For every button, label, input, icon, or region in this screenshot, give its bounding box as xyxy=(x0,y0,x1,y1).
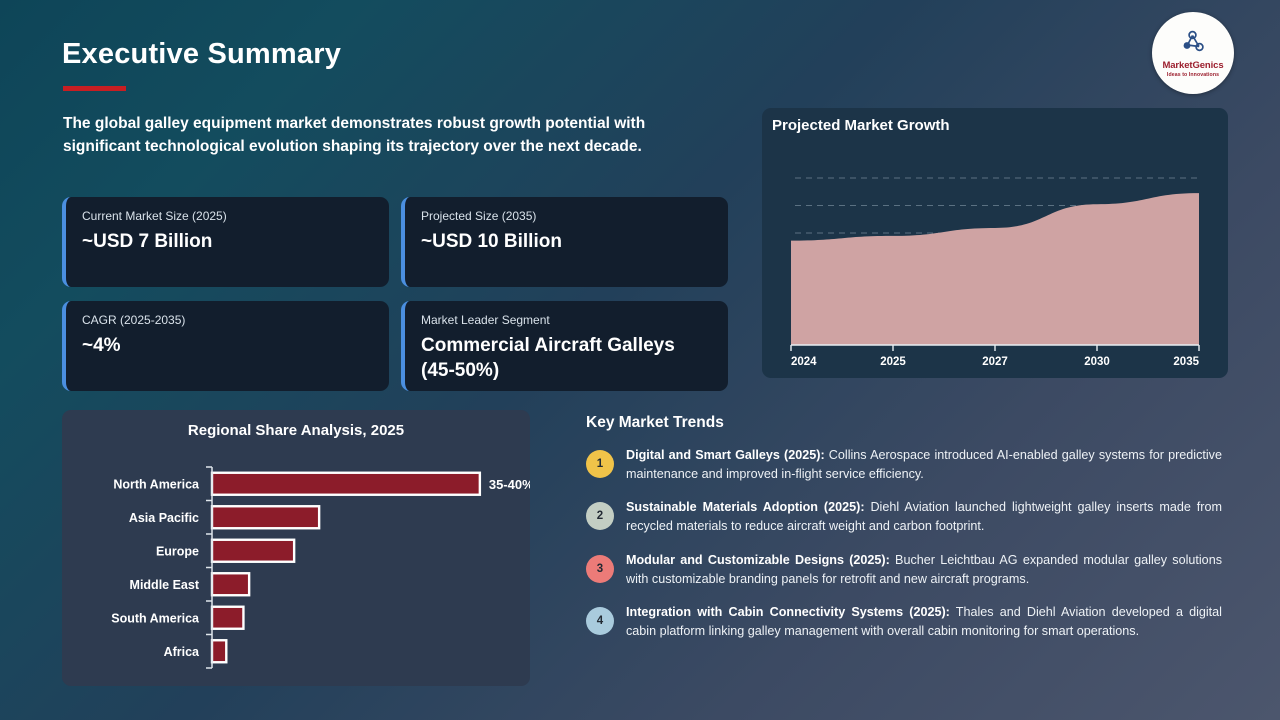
trend-heading: Digital and Smart Galleys (2025): xyxy=(626,448,825,462)
bar-africa xyxy=(212,640,226,662)
kpi-label: Market Leader Segment xyxy=(421,313,712,327)
kpi-value: ~4% xyxy=(82,333,373,358)
trend-description: Digital and Smart Galleys (2025): Collin… xyxy=(626,446,1222,484)
logo-wordmark: MarketGenics xyxy=(1162,61,1223,71)
svg-text:2030: 2030 xyxy=(1084,356,1110,368)
bar-category-label: South America xyxy=(111,611,200,625)
bar-asia-pacific xyxy=(212,506,319,528)
kpi-value: ~USD 7 Billion xyxy=(82,229,373,254)
svg-text:2027: 2027 xyxy=(982,356,1008,368)
brand-logo: MarketGenics Ideas to Innovations xyxy=(1152,12,1234,94)
svg-text:2035: 2035 xyxy=(1173,356,1199,368)
svg-text:2025: 2025 xyxy=(880,356,906,368)
trend-description: Integration with Cabin Connectivity Syst… xyxy=(626,603,1222,641)
kpi-card-projected-size: Projected Size (2035) ~USD 10 Billion xyxy=(401,197,728,287)
chart-y-axis xyxy=(206,467,212,668)
page-title: Executive Summary xyxy=(62,38,341,71)
trends-section-title: Key Market Trends xyxy=(586,414,724,432)
chart-x-tick-labels: 20242025202720302035 xyxy=(791,356,1200,368)
trend-heading: Modular and Customizable Designs (2025): xyxy=(626,553,890,567)
bar-south-america xyxy=(212,607,243,629)
chart-x-axis xyxy=(791,345,1199,351)
kpi-label: Current Market Size (2025) xyxy=(82,209,373,223)
trends-list: 1Digital and Smart Galleys (2025): Colli… xyxy=(586,446,1222,655)
bar-value-label: 35-40% xyxy=(489,477,530,492)
trend-heading: Integration with Cabin Connectivity Syst… xyxy=(626,605,950,619)
kpi-card-market-leader-segment: Market Leader Segment Commercial Aircraf… xyxy=(401,301,728,391)
kpi-label: Projected Size (2035) xyxy=(421,209,712,223)
kpi-value: Commercial Aircraft Galleys (45-50%) xyxy=(421,333,712,383)
area-series-market-size xyxy=(791,193,1199,345)
projected-market-growth-chart: 20242025202720302035 xyxy=(762,108,1228,378)
bar-category-label: North America xyxy=(113,477,200,491)
trend-item: 1Digital and Smart Galleys (2025): Colli… xyxy=(586,446,1222,484)
trend-number-badge: 2 xyxy=(586,502,614,530)
kpi-card-current-market-size: Current Market Size (2025) ~USD 7 Billio… xyxy=(62,197,389,287)
kpi-value: ~USD 10 Billion xyxy=(421,229,712,254)
trend-item: 4Integration with Cabin Connectivity Sys… xyxy=(586,603,1222,641)
bar-europe xyxy=(212,540,294,562)
kpi-card-cagr: CAGR (2025-2035) ~4% xyxy=(62,301,389,391)
regional-share-analysis-panel: Regional Share Analysis, 2025 North Amer… xyxy=(62,410,530,686)
trend-number-badge: 3 xyxy=(586,555,614,583)
chart-category-labels: North America35-40%Asia PacificEuropeMid… xyxy=(111,477,530,659)
projected-market-growth-panel: Projected Market Growth 2024202520272030… xyxy=(762,108,1228,378)
page-subtitle: The global galley equipment market demon… xyxy=(63,113,703,158)
trend-number-badge: 4 xyxy=(586,607,614,635)
regional-share-bar-chart: North America35-40%Asia PacificEuropeMid… xyxy=(62,410,530,686)
bar-series-regional-share xyxy=(212,473,480,663)
trend-description: Modular and Customizable Designs (2025):… xyxy=(626,551,1222,589)
svg-text:2024: 2024 xyxy=(791,356,817,368)
bar-category-label: Europe xyxy=(156,544,199,558)
bar-category-label: Middle East xyxy=(130,578,200,592)
network-nodes-icon xyxy=(1178,30,1208,60)
bar-north-america xyxy=(212,473,480,495)
bar-middle-east xyxy=(212,573,249,595)
trend-item: 3Modular and Customizable Designs (2025)… xyxy=(586,551,1222,589)
title-underline-rule xyxy=(63,86,126,91)
trend-item: 2Sustainable Materials Adoption (2025): … xyxy=(586,498,1222,536)
bar-category-label: Asia Pacific xyxy=(129,511,199,525)
kpi-label: CAGR (2025-2035) xyxy=(82,313,373,327)
trend-number-badge: 1 xyxy=(586,450,614,478)
bar-category-label: Africa xyxy=(164,645,200,659)
trend-description: Sustainable Materials Adoption (2025): D… xyxy=(626,498,1222,536)
trend-heading: Sustainable Materials Adoption (2025): xyxy=(626,500,865,514)
logo-tagline: Ideas to Innovations xyxy=(1167,72,1219,78)
